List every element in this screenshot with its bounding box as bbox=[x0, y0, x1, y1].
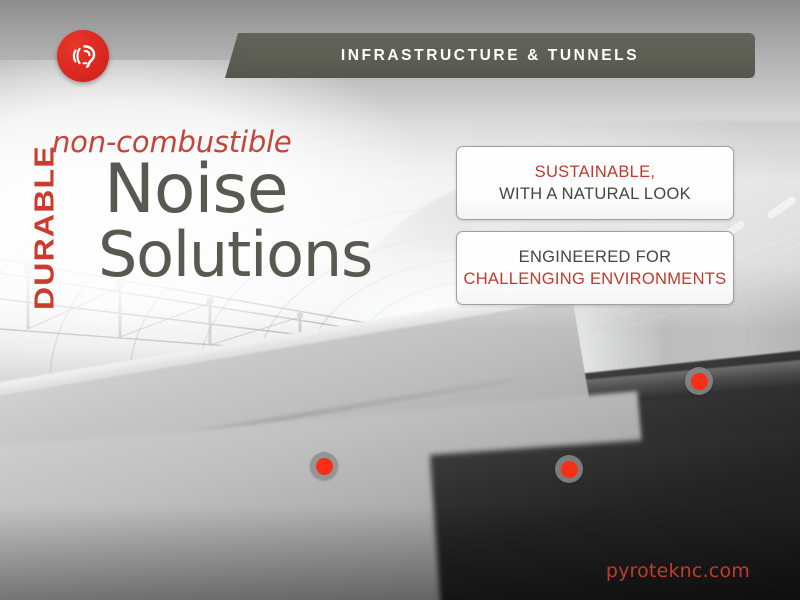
callout-sustainable[interactable]: SUSTAINABLE, WITH A NATURAL LOOK bbox=[456, 146, 734, 220]
callout-sustainable-line1: SUSTAINABLE, bbox=[535, 161, 656, 183]
callout-engineered-line1: ENGINEERED FOR bbox=[519, 246, 672, 268]
hotspot-dot bbox=[691, 373, 708, 390]
hotspot-dot bbox=[316, 458, 333, 475]
footer-website-url[interactable]: pyroteknc.com bbox=[606, 560, 750, 582]
slide-canvas: INFRASTRUCTURE & TUNNELS non-combustible… bbox=[0, 0, 800, 600]
callout-engineered[interactable]: ENGINEERED FOR CHALLENGING ENVIRONMENTS bbox=[456, 231, 734, 305]
headline-durable-wrap: DURABLE bbox=[58, 165, 102, 310]
ear-soundwave-icon bbox=[57, 30, 109, 82]
section-banner: INFRASTRUCTURE & TUNNELS bbox=[225, 33, 755, 78]
banner-title: INFRASTRUCTURE & TUNNELS bbox=[341, 47, 639, 65]
headline-line1: Noise bbox=[104, 157, 288, 222]
hotspot-tunnel-wall[interactable] bbox=[685, 367, 713, 395]
hotspot-dot bbox=[561, 461, 578, 478]
headline-durable: DURABLE bbox=[30, 145, 58, 310]
pyrotek-logo[interactable] bbox=[57, 30, 109, 82]
bottom-vignette bbox=[0, 505, 800, 600]
headline-block: non-combustible DURABLE Noise Solutions bbox=[52, 128, 382, 310]
hotspot-walkway[interactable] bbox=[310, 452, 338, 480]
callout-sustainable-line2: WITH A NATURAL LOOK bbox=[499, 183, 691, 205]
headline-line2: Solutions bbox=[98, 225, 372, 285]
hotspot-trackbed[interactable] bbox=[555, 455, 583, 483]
callout-engineered-line2: CHALLENGING ENVIRONMENTS bbox=[464, 268, 727, 290]
